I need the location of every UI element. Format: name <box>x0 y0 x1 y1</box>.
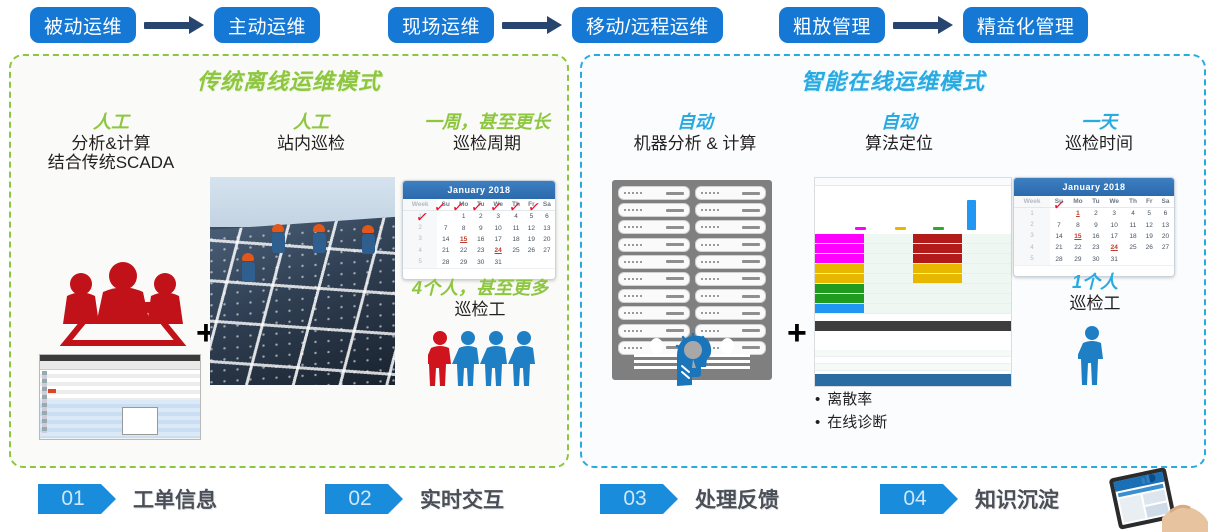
worker-person-icon-group-left <box>428 330 538 390</box>
left-workers-sub: 巡检工 <box>400 300 560 319</box>
left-calendar-header-row: Week Su Mo Tu We Th Fr Sa <box>403 199 555 211</box>
transition-from-2: 现场运维 <box>388 7 494 43</box>
cal-day-highlight: 24 <box>488 245 508 256</box>
table-row: 4 21 22 23 24 25 26 27 <box>403 245 555 256</box>
table-row <box>815 274 1011 284</box>
cal-day: 21 <box>1050 242 1068 253</box>
cal-day: 9 <box>473 222 488 233</box>
left-cal-dh-1: Mo <box>454 199 473 211</box>
server-unit <box>695 306 767 320</box>
server-unit <box>695 186 767 200</box>
cal-day: 22 <box>1068 242 1088 253</box>
worker-3 <box>313 224 326 253</box>
right-calendar-week-header: Week <box>1014 196 1050 208</box>
cal-day: 7 <box>437 222 454 233</box>
cal-day: 29 <box>454 257 473 268</box>
right-caption-3: 一天 巡检时间 <box>1014 112 1184 153</box>
cal-day: 20 <box>1157 231 1174 242</box>
scada-screenshot <box>39 354 201 440</box>
cal-day: 6 <box>539 211 555 223</box>
step-02-label: 实时交互 <box>420 484 504 514</box>
transition-group-3: 粗放管理 精益化管理 <box>779 7 1089 43</box>
cal-day: 4 <box>508 211 524 223</box>
cal-day: 3 <box>488 211 508 223</box>
cal-day: 23 <box>473 245 488 256</box>
week-num: 1 <box>403 211 437 223</box>
solar-farm-photo <box>210 177 395 385</box>
cal-day-highlight: 24 <box>1104 242 1125 253</box>
server-unit <box>695 272 767 286</box>
right-calendar-body: 1 1 2 3 4 5 6 2 7 8 9 10 11 12 13 3 14 1… <box>1014 208 1174 265</box>
cal-day: 11 <box>508 222 524 233</box>
cal-day: 7 <box>1050 219 1068 230</box>
server-unit <box>618 272 690 286</box>
left-caption-1-sub2: 结合传统SCADA <box>21 153 201 172</box>
server-unit <box>618 255 690 269</box>
cal-day: 28 <box>1050 254 1068 265</box>
cal-day <box>1125 254 1142 265</box>
step-02[interactable]: 02 实时交互 <box>325 484 504 514</box>
cal-day: 26 <box>524 245 539 256</box>
worker-4 <box>362 225 375 254</box>
cal-day: 10 <box>488 222 508 233</box>
cal-day: 13 <box>1157 219 1174 230</box>
table-row: 2 7 8 9 10 11 12 13 <box>1014 219 1174 230</box>
left-workers-accent: 4个人，甚至更多 <box>400 278 560 298</box>
left-workers-caption: 4个人，甚至更多 巡检工 <box>400 278 560 319</box>
step-04-number: 04 <box>880 484 943 514</box>
step-01[interactable]: 01 工单信息 <box>38 484 217 514</box>
bullet-dot-icon: • <box>815 411 820 434</box>
step-04-label: 知识沉淀 <box>975 484 1059 514</box>
cal-day: 27 <box>1157 242 1174 253</box>
table-row: 3 14 15 16 17 18 19 20 <box>403 234 555 245</box>
table-row: 1 1 2 3 4 5 6 <box>403 211 555 223</box>
cal-day-highlight: 15 <box>454 234 473 245</box>
week-num: 4 <box>1014 242 1050 253</box>
left-calendar-week-header: Week <box>403 199 437 211</box>
left-cal-dh-5: Fr <box>524 199 539 211</box>
worker-2 <box>272 224 285 253</box>
server-unit <box>618 203 690 217</box>
server-unit <box>695 255 767 269</box>
meeting-people-icon <box>37 251 207 346</box>
right-cal-dh-3: We <box>1104 196 1125 208</box>
table-row: 3 14 15 16 17 18 19 20 <box>1014 231 1174 242</box>
step-01-number: 01 <box>38 484 101 514</box>
bullet-label: 在线诊断 <box>827 411 887 434</box>
right-calendar: January 2018 Week Su Mo Tu We Th Fr Sa 1… <box>1013 177 1175 277</box>
step-02-number: 02 <box>325 484 388 514</box>
cal-day: 19 <box>524 234 539 245</box>
table-row <box>815 304 1011 314</box>
left-caption-1: 人工 分析&计算 结合传统SCADA <box>21 112 201 172</box>
dashboard-toolbar-dark <box>815 321 1011 331</box>
step-04[interactable]: 04 知识沉淀 <box>880 484 1059 514</box>
transition-to-1: 主动运维 <box>214 7 320 43</box>
table-row <box>815 234 1011 244</box>
transition-to-3: 精益化管理 <box>963 7 1089 43</box>
cal-day: 17 <box>488 234 508 245</box>
table-row <box>815 364 1011 371</box>
cal-day: 6 <box>1157 208 1174 220</box>
cal-day-highlight: 15 <box>1068 231 1088 242</box>
cal-day: 31 <box>1104 254 1125 265</box>
cal-day: 29 <box>1068 254 1088 265</box>
week-num: 5 <box>403 257 437 268</box>
cal-day: 27 <box>539 245 555 256</box>
left-cal-dh-2: Tu <box>473 199 488 211</box>
table-row: 4 21 22 23 24 25 26 27 <box>1014 242 1174 253</box>
transition-group-2: 现场运维 移动/远程运维 <box>388 7 723 43</box>
left-caption-1-sub: 分析&计算 <box>21 134 201 153</box>
right-caption-2: 自动 算法定位 <box>814 112 984 153</box>
server-unit <box>695 289 767 303</box>
cal-day: 5 <box>1142 208 1157 220</box>
transition-to-2: 移动/远程运维 <box>572 7 723 43</box>
dashboard-footer-bar <box>815 374 1011 386</box>
table-row <box>815 254 1011 264</box>
table-row: 5 28 29 30 31 <box>403 257 555 268</box>
left-caption-1-accent: 人工 <box>21 112 201 132</box>
right-caption-2-accent: 自动 <box>814 112 984 132</box>
cal-day: 12 <box>524 222 539 233</box>
left-cal-dh-0: Su <box>437 199 454 211</box>
cal-day: 1 <box>454 211 473 223</box>
right-cal-dh-5: Fr <box>1142 196 1157 208</box>
transition-from-3: 粗放管理 <box>779 7 885 43</box>
cal-day: 17 <box>1104 231 1125 242</box>
left-cal-dh-4: Th <box>508 199 524 211</box>
week-num: 5 <box>1014 254 1050 265</box>
cal-day <box>1050 208 1068 220</box>
dashboard-chart <box>815 194 1011 235</box>
cal-day: 21 <box>437 245 454 256</box>
cal-day: 4 <box>1125 208 1142 220</box>
cal-day-highlight: 1 <box>1068 208 1088 220</box>
dashboard-table-1 <box>815 234 1011 314</box>
left-caption-3-accent: 一周，甚至更长 <box>407 112 567 132</box>
right-calendar-table: Week Su Mo Tu We Th Fr Sa 1 1 2 3 4 5 6 … <box>1014 196 1174 265</box>
left-calendar-month: January 2018 <box>403 181 555 199</box>
cal-day: 11 <box>1125 219 1142 230</box>
right-cal-dh-1: Mo <box>1068 196 1088 208</box>
left-caption-2: 人工 站内巡检 <box>216 112 406 153</box>
left-caption-3: 一周，甚至更长 巡检周期 <box>407 112 567 153</box>
server-unit <box>618 220 690 234</box>
left-calendar-table: Week Su Mo Tu We Th Fr Sa 1 1 2 3 4 5 6 … <box>403 199 555 268</box>
right-workers-accent: 1个人 <box>1030 272 1160 292</box>
cal-day: 18 <box>1125 231 1142 242</box>
cal-day: 16 <box>473 234 488 245</box>
right-cal-dh-2: Tu <box>1088 196 1104 208</box>
cal-day: 26 <box>1142 242 1157 253</box>
list-item: •在线诊断 <box>815 411 887 434</box>
table-row: 2 7 8 9 10 11 12 13 <box>403 222 555 233</box>
cal-day: 30 <box>473 257 488 268</box>
cal-day: 12 <box>1142 219 1157 230</box>
right-bullet-list: •离散率 •在线诊断 <box>815 388 887 435</box>
left-caption-2-sub: 站内巡检 <box>216 134 406 153</box>
right-caption-1-sub: 机器分析 & 计算 <box>600 134 790 153</box>
left-caption-3-sub: 巡检周期 <box>407 134 567 153</box>
transition-row: 被动运维 主动运维 现场运维 移动/远程运维 粗放管理 精益化管理 <box>0 0 1212 50</box>
cal-day: 2 <box>473 211 488 223</box>
left-cal-dh-3: We <box>488 199 508 211</box>
bottom-steps-row: 01 工单信息 02 实时交互 03 处理反馈 04 知识沉淀 <box>0 472 1212 532</box>
cal-day: 8 <box>454 222 473 233</box>
right-caption-3-accent: 一天 <box>1014 112 1184 132</box>
tablet-in-hand-photo <box>1100 468 1208 532</box>
week-num: 1 <box>1014 208 1050 220</box>
cal-day: 25 <box>1125 242 1142 253</box>
cal-day: 20 <box>539 234 555 245</box>
table-row: 1 1 2 3 4 5 6 <box>1014 208 1174 220</box>
right-calendar-month: January 2018 <box>1014 178 1174 196</box>
step-03-label: 处理反馈 <box>695 484 779 514</box>
table-row <box>815 350 1011 357</box>
cal-day: 2 <box>1088 208 1104 220</box>
cal-day: 14 <box>1050 231 1068 242</box>
worker-person-icon-right <box>1078 325 1110 387</box>
bullet-dot-icon: • <box>815 388 820 411</box>
worker-1 <box>242 253 255 282</box>
left-cal-dh-6: Sa <box>539 199 555 211</box>
server-unit <box>618 238 690 252</box>
right-cal-dh-0: Su <box>1050 196 1068 208</box>
left-calendar: January 2018 Week Su Mo Tu We Th Fr Sa 1… <box>402 180 556 280</box>
table-row <box>815 244 1011 254</box>
cal-day: 5 <box>524 211 539 223</box>
cal-day: 19 <box>1142 231 1157 242</box>
server-unit <box>618 306 690 320</box>
cal-day: 22 <box>454 245 473 256</box>
cal-day: 28 <box>437 257 454 268</box>
table-row <box>815 264 1011 274</box>
table-row <box>815 284 1011 294</box>
server-unit <box>618 289 690 303</box>
cal-day: 14 <box>437 234 454 245</box>
left-calendar-body: 1 1 2 3 4 5 6 2 7 8 9 10 11 12 13 3 14 1… <box>403 211 555 268</box>
server-unit <box>695 238 767 252</box>
step-01-label: 工单信息 <box>133 484 217 514</box>
week-num: 4 <box>403 245 437 256</box>
right-cal-dh-6: Sa <box>1157 196 1174 208</box>
step-03-number: 03 <box>600 484 663 514</box>
arrow-right-icon-1 <box>144 19 206 31</box>
plus-symbol-right: + <box>787 314 807 353</box>
right-caption-1-accent: 自动 <box>600 112 790 132</box>
transition-from-1: 被动运维 <box>30 7 136 43</box>
cal-day: 25 <box>508 245 524 256</box>
right-panel-title: 智能在线运维模式 <box>582 64 1204 96</box>
step-03[interactable]: 03 处理反馈 <box>600 484 779 514</box>
table-row <box>815 294 1011 304</box>
table-row <box>815 357 1011 364</box>
ai-brain-head-icon <box>655 322 725 386</box>
right-calendar-header-row: Week Su Mo Tu We Th Fr Sa <box>1014 196 1174 208</box>
right-cal-dh-4: Th <box>1125 196 1142 208</box>
right-workers-sub: 巡检工 <box>1030 294 1160 313</box>
server-unit <box>695 220 767 234</box>
right-caption-1: 自动 机器分析 & 计算 <box>600 112 790 153</box>
left-panel-title: 传统离线运维模式 <box>11 64 567 96</box>
server-unit <box>695 203 767 217</box>
server-unit <box>618 186 690 200</box>
list-item: •离散率 <box>815 388 887 411</box>
cal-day <box>1142 254 1157 265</box>
cal-day: 23 <box>1088 242 1104 253</box>
week-num: 3 <box>403 234 437 245</box>
cal-day <box>539 257 555 268</box>
cal-day: 18 <box>508 234 524 245</box>
cal-day: 9 <box>1088 219 1104 230</box>
cal-day: 30 <box>1088 254 1104 265</box>
cal-day: 13 <box>539 222 555 233</box>
cal-day: 10 <box>1104 219 1125 230</box>
cal-day <box>437 211 454 223</box>
cal-day: 31 <box>488 257 508 268</box>
cal-day: 16 <box>1088 231 1104 242</box>
cal-day <box>508 257 524 268</box>
arrow-right-icon-2 <box>502 19 564 31</box>
cal-day <box>1157 254 1174 265</box>
analytics-dashboard-screenshot <box>814 177 1012 387</box>
arrow-right-icon-3 <box>893 19 955 31</box>
right-caption-3-sub: 巡检时间 <box>1014 134 1184 153</box>
week-num: 3 <box>1014 231 1050 242</box>
table-row: 5 28 29 30 31 <box>1014 254 1174 265</box>
transition-group-1: 被动运维 主动运维 <box>30 7 320 43</box>
cal-day <box>524 257 539 268</box>
left-caption-2-accent: 人工 <box>216 112 406 132</box>
right-caption-2-sub: 算法定位 <box>814 134 984 153</box>
right-workers-caption: 1个人 巡检工 <box>1030 272 1160 313</box>
week-num: 2 <box>403 222 437 233</box>
cal-day: 8 <box>1068 219 1088 230</box>
week-num: 2 <box>1014 219 1050 230</box>
bullet-label: 离散率 <box>827 388 872 411</box>
cal-day: 3 <box>1104 208 1125 220</box>
